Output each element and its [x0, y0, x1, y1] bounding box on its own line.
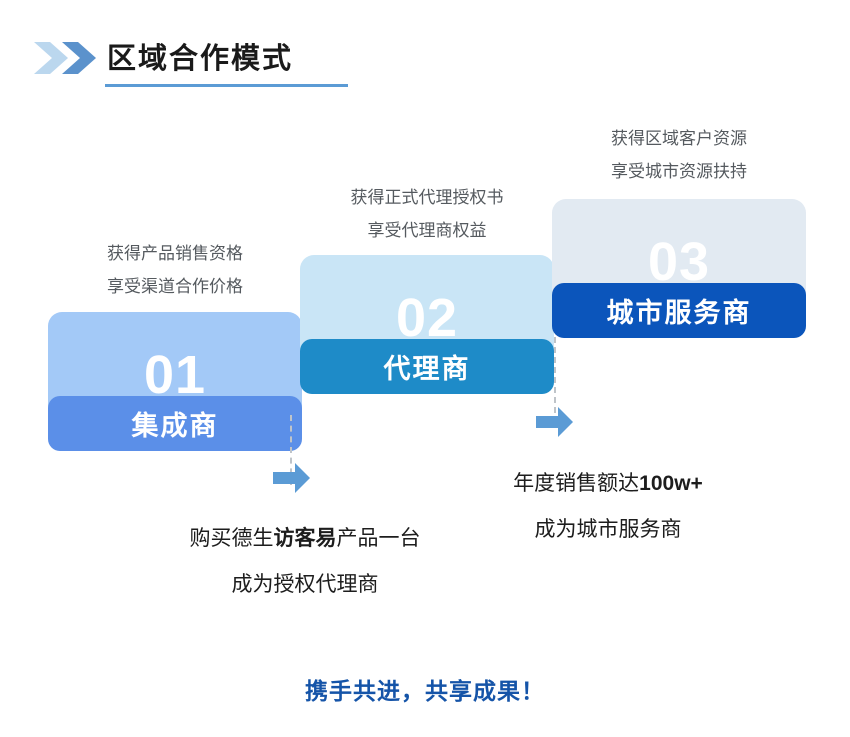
step-label-bar: 代理商 — [300, 339, 554, 394]
requirement-highlight: 访客易 — [274, 527, 337, 550]
step-label-bar: 城市服务商 — [552, 283, 806, 338]
benefit-line: 享受代理商权益 — [277, 214, 577, 247]
step-requirement: 购买德生访客易产品一台 成为授权代理商 — [155, 516, 455, 608]
requirement-highlight: 100w+ — [639, 472, 703, 495]
step-number: 03 — [552, 235, 806, 289]
step-benefits: 获得正式代理授权书 享受代理商权益 — [277, 181, 577, 247]
step-requirement: 年度销售额达100w+ 成为城市服务商 — [458, 461, 758, 553]
requirement-line-2: 成为授权代理商 — [155, 562, 455, 608]
requirement-prefix: 年度销售额达 — [513, 472, 639, 495]
arrow-right-icon — [273, 462, 311, 494]
step-number: 01 — [48, 348, 302, 402]
footer-slogan: 携手共进，共享成果！ — [0, 672, 850, 706]
requirement-prefix: 购买德生 — [190, 527, 274, 550]
step-label: 代理商 — [384, 347, 471, 386]
requirement-suffix: 产品一台 — [337, 527, 421, 550]
benefit-line: 享受渠道合作价格 — [25, 270, 325, 303]
partnership-tier-diagram: 获得产品销售资格 享受渠道合作价格 获得正式代理授权书 享受代理商权益 获得区域… — [0, 0, 850, 737]
step-number: 02 — [300, 291, 554, 345]
step-label: 城市服务商 — [607, 291, 752, 330]
step-benefits: 获得区域客户资源 享受城市资源扶持 — [529, 122, 829, 188]
requirement-line-1: 购买德生访客易产品一台 — [155, 516, 455, 562]
requirement-line-1: 年度销售额达100w+ — [458, 461, 758, 507]
requirement-line-2: 成为城市服务商 — [458, 507, 758, 553]
benefit-line: 享受城市资源扶持 — [529, 155, 829, 188]
benefit-line: 获得区域客户资源 — [529, 122, 829, 155]
step-label-bar: 集成商 — [48, 396, 302, 451]
step-label: 集成商 — [132, 404, 219, 443]
arrow-right-icon — [536, 406, 574, 438]
